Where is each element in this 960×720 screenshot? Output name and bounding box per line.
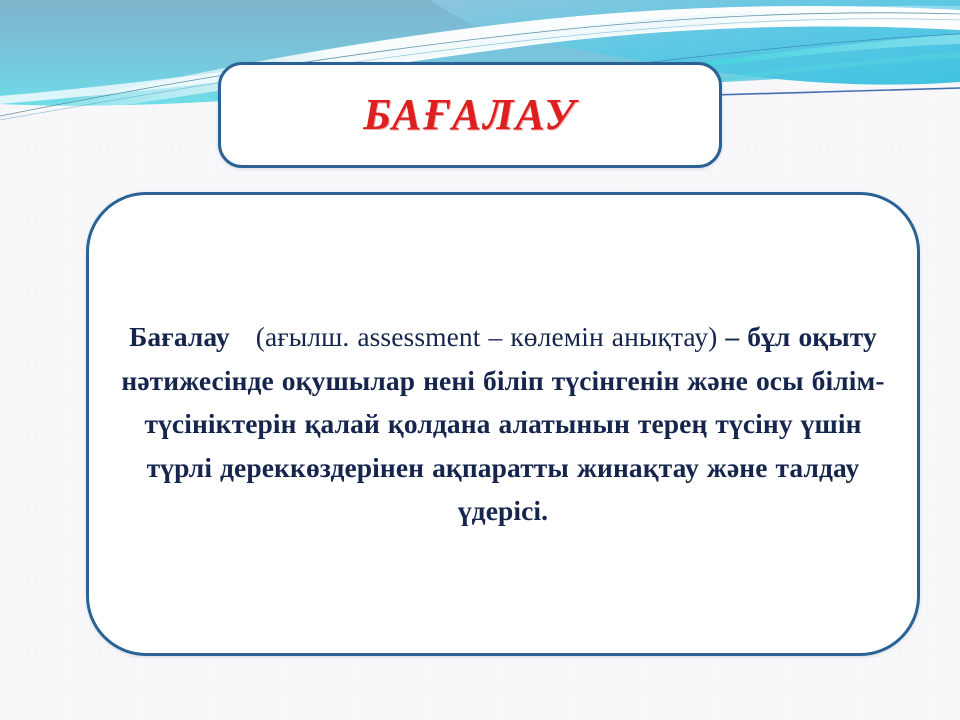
definition-term: Бағалау: [129, 321, 230, 352]
definition-paragraph: Бағалау(ағылш. assessment – көлемін анық…: [110, 315, 896, 532]
title-card: БАҒАЛАУ: [218, 62, 722, 168]
definition-card: Бағалау(ағылш. assessment – көлемін анық…: [86, 192, 920, 656]
page-title: БАҒАЛАУ: [363, 93, 576, 137]
slide-canvas: БАҒАЛАУ Бағалау(ағылш. assessment – көле…: [0, 0, 960, 720]
definition-parenthetical: (ағылш. assessment – көлемін анықтау): [256, 321, 718, 352]
